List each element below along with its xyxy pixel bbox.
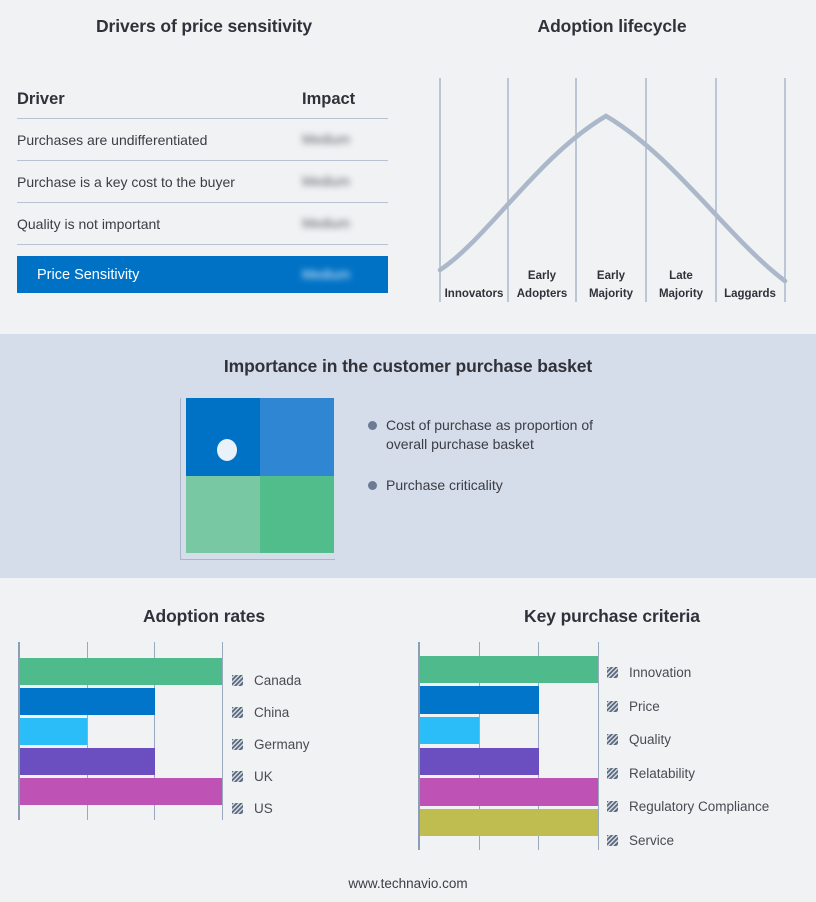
legend-item: Germany	[232, 728, 310, 760]
adoption-plot-area	[18, 642, 222, 820]
adoption-rates-chart	[18, 642, 224, 820]
legend-label: UK	[254, 769, 273, 784]
infographic-page: Drivers of price sensitivity Driver Impa…	[0, 0, 816, 902]
column-header-driver: Driver	[17, 90, 302, 109]
driver-impact-value: Medium	[302, 216, 388, 231]
legend-item: Price	[607, 690, 769, 724]
legend-item: Canada	[232, 664, 310, 696]
legend-label: Relatability	[629, 766, 695, 781]
driver-impact-value: Medium	[302, 174, 388, 189]
bar-innovation	[420, 656, 598, 684]
bar-relatability	[420, 748, 539, 776]
driver-name: Purchase is a key cost to the buyer	[17, 174, 302, 190]
legend-label: Price	[629, 699, 660, 714]
stage-label-innovators: Innovators	[445, 288, 504, 300]
drivers-table: Driver Impact Purchases are undifferenti…	[17, 90, 388, 293]
bar-uk	[20, 748, 155, 775]
drivers-table-header: Driver Impact	[17, 90, 388, 119]
bar-price	[420, 686, 539, 714]
adoption-curve	[440, 116, 785, 281]
table-row: Purchase is a key cost to the buyer Medi…	[17, 161, 388, 203]
legend-label: Quality	[629, 732, 671, 747]
column-header-impact: Impact	[302, 90, 388, 109]
legend-pattern-icon	[607, 768, 618, 779]
legend-dot-icon	[368, 421, 377, 430]
driver-name: Purchases are undifferentiated	[17, 132, 302, 148]
legend-item: Cost of purchase as proportion of overal…	[368, 416, 668, 454]
legend-label: Innovation	[629, 665, 691, 680]
key-purchase-criteria-chart	[418, 642, 600, 850]
legend-item: Service	[607, 824, 769, 858]
bar-quality	[420, 717, 479, 745]
drivers-panel-title: Drivers of price sensitivity	[0, 16, 408, 37]
bar-service	[420, 809, 598, 837]
legend-item: UK	[232, 760, 310, 792]
lifecycle-panel-title: Adoption lifecycle	[408, 16, 816, 37]
quadrant-grid	[186, 398, 334, 553]
legend-pattern-icon	[232, 707, 243, 718]
quadrant-top-left	[186, 398, 260, 476]
legend-dot-icon	[368, 481, 377, 490]
importance-panel-title: Importance in the customer purchase bask…	[0, 356, 816, 377]
key-purchase-criteria-title: Key purchase criteria	[408, 606, 816, 627]
stage-label-late-majority-line2: Majority	[659, 288, 704, 300]
legend-label: Service	[629, 833, 674, 848]
stage-label-late-majority-line1: Late	[669, 270, 693, 282]
summary-impact-value: Medium	[302, 267, 388, 282]
driver-impact-value: Medium	[302, 132, 388, 147]
quadrant-top-right	[260, 398, 334, 476]
legend-label: Regulatory Compliance	[629, 799, 769, 814]
legend-label: Germany	[254, 737, 310, 752]
quadrant-bottom-right	[260, 476, 334, 554]
adoption-rates-panel: Adoption rates CanadaChinaGermanyUKUS	[0, 578, 408, 878]
key-purchase-criteria-legend: InnovationPriceQualityRelatabilityRegula…	[607, 656, 769, 857]
legend-label: Purchase criticality	[386, 476, 503, 495]
importance-panel: Importance in the customer purchase bask…	[0, 334, 816, 578]
legend-item: China	[232, 696, 310, 728]
driver-name: Quality is not important	[17, 216, 302, 232]
bar-germany	[20, 718, 87, 745]
legend-item: US	[232, 792, 310, 824]
stage-label-early-adopters-line2: Adopters	[517, 288, 567, 300]
legend-label: Canada	[254, 673, 301, 688]
legend-pattern-icon	[607, 835, 618, 846]
footer-url: www.technavio.com	[0, 876, 816, 891]
summary-label: Price Sensitivity	[37, 267, 302, 283]
legend-pattern-icon	[232, 803, 243, 814]
quadrant-chart	[180, 398, 335, 560]
bar-us	[20, 778, 222, 805]
legend-pattern-icon	[232, 739, 243, 750]
table-row: Purchases are undifferentiated Medium	[17, 119, 388, 161]
legend-item: Purchase criticality	[368, 476, 668, 495]
legend-pattern-icon	[232, 771, 243, 782]
stage-label-early-majority-line1: Early	[597, 270, 626, 282]
stage-label-early-majority-line2: Majority	[589, 288, 634, 300]
adoption-rates-title: Adoption rates	[0, 606, 408, 627]
quadrant-bottom-left	[186, 476, 260, 554]
table-row: Quality is not important Medium	[17, 203, 388, 245]
bar-regulatory-compliance	[420, 778, 598, 806]
lifecycle-panel: Adoption lifecycle Innovators Early Adop…	[408, 0, 816, 334]
key-purchase-criteria-panel: Key purchase criteria InnovationPriceQua…	[408, 578, 816, 878]
legend-pattern-icon	[607, 701, 618, 712]
legend-label: Cost of purchase as proportion of overal…	[386, 416, 636, 454]
stage-label-early-adopters-line1: Early	[528, 270, 557, 282]
legend-item: Quality	[607, 723, 769, 757]
bar-canada	[20, 658, 222, 685]
legend-label: US	[254, 801, 273, 816]
legend-item: Innovation	[607, 656, 769, 690]
legend-pattern-icon	[232, 675, 243, 686]
legend-item: Relatability	[607, 757, 769, 791]
bar-china	[20, 688, 155, 715]
criteria-plot-area	[418, 642, 598, 850]
adoption-rates-legend: CanadaChinaGermanyUKUS	[232, 664, 310, 824]
price-sensitivity-summary-row: Price Sensitivity Medium	[17, 256, 388, 293]
importance-legend: Cost of purchase as proportion of overal…	[368, 416, 668, 517]
adoption-lifecycle-chart: Innovators Early Adopters Early Majority…	[428, 70, 798, 310]
stage-label-laggards: Laggards	[724, 288, 776, 300]
drivers-panel: Drivers of price sensitivity Driver Impa…	[0, 0, 408, 334]
legend-item: Regulatory Compliance	[607, 790, 769, 824]
legend-pattern-icon	[607, 667, 618, 678]
legend-label: China	[254, 705, 289, 720]
legend-pattern-icon	[607, 734, 618, 745]
quadrant-data-point	[217, 439, 237, 461]
legend-pattern-icon	[607, 801, 618, 812]
